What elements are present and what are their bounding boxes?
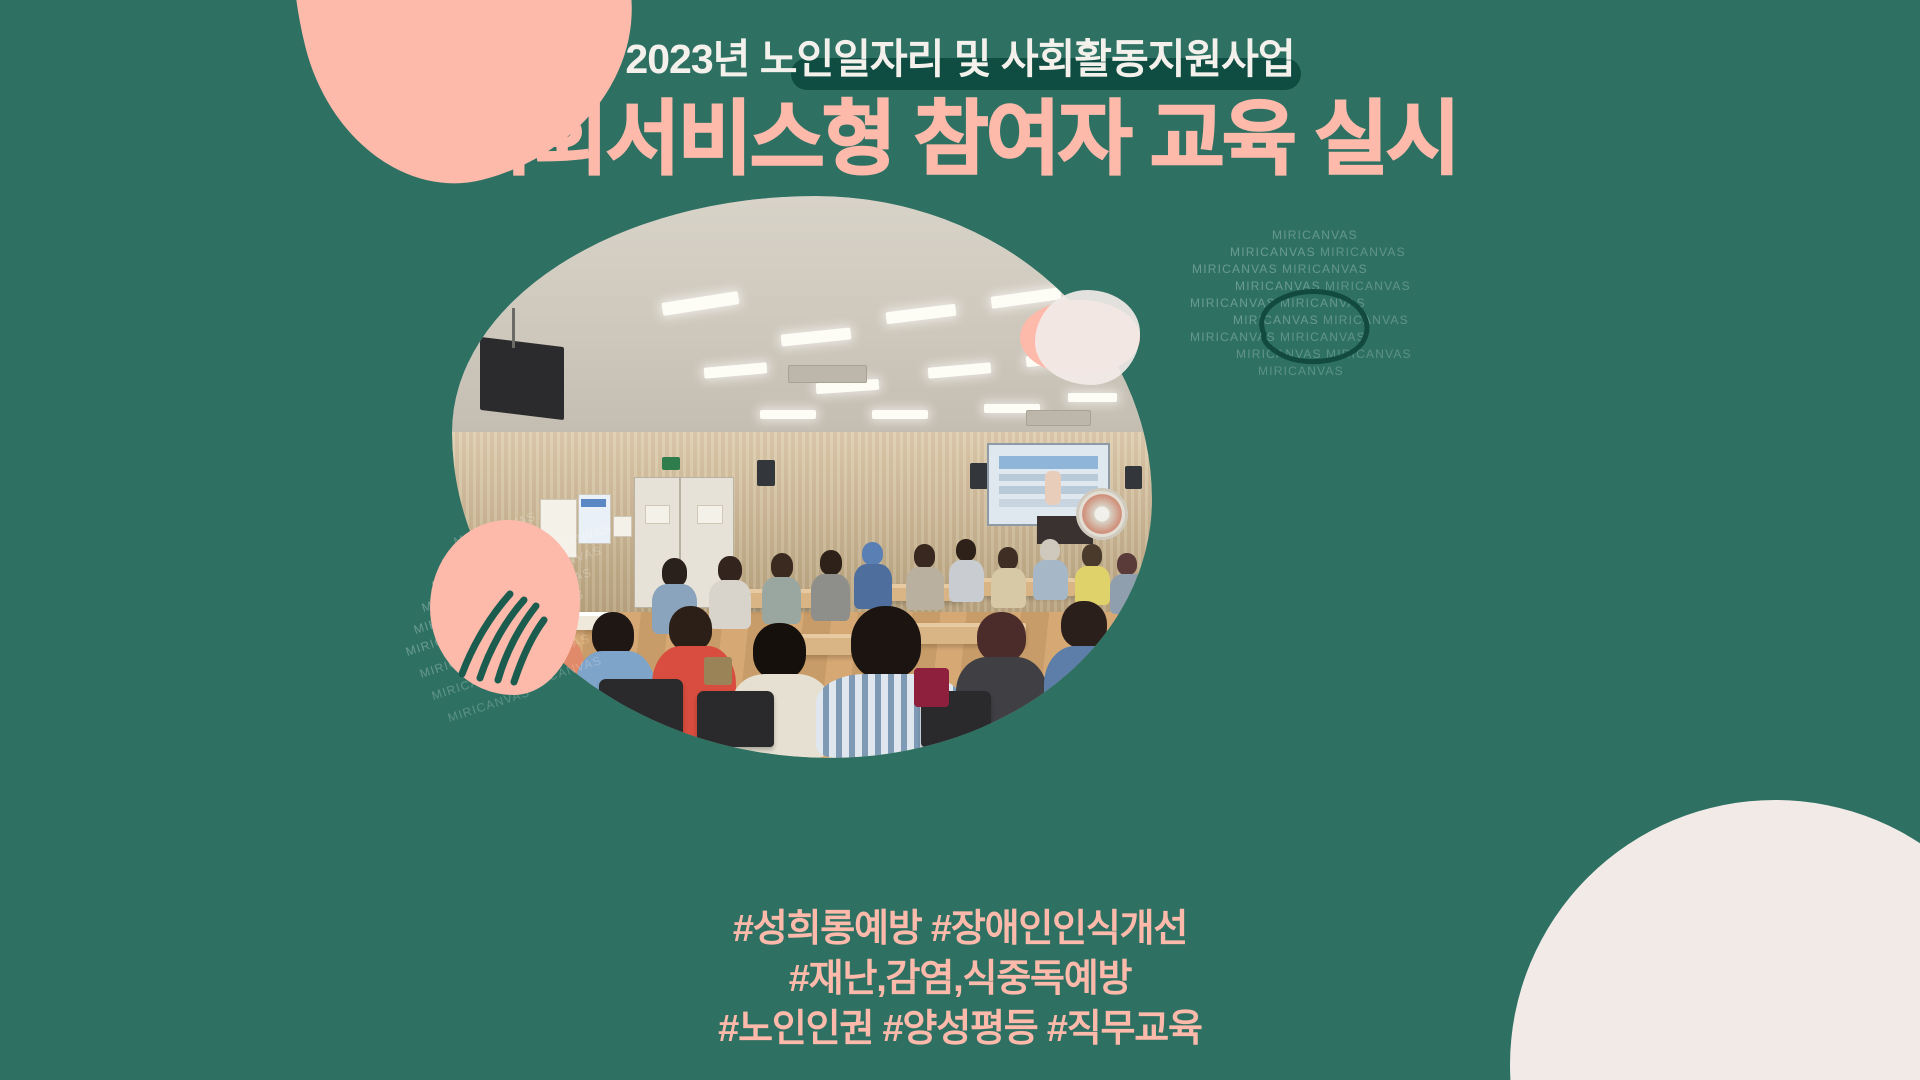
watermark-text: MIRICANVAS <box>1233 313 1319 327</box>
photo-mask <box>452 196 1152 758</box>
watermark-text: MIRICANVAS <box>1280 296 1366 310</box>
watermark-text: MIRICANVAS <box>1236 347 1322 361</box>
watermark-text: MIRICANVAS <box>1272 228 1358 242</box>
watermark-text: MIRICANVAS <box>1326 347 1412 361</box>
watermark-text: MIRICANVAS <box>1320 245 1406 259</box>
watermark-text: MIRICANVAS <box>1235 279 1321 293</box>
electric-fan <box>1076 488 1128 540</box>
watermark-text: MIRICANVAS <box>1192 262 1278 276</box>
hanging-monitor <box>480 337 564 420</box>
hashtag-line: #재난,감염,식중독예방 <box>0 954 1920 1004</box>
watermark-text: MIRICANVAS <box>1190 296 1276 310</box>
poster-canvas: 2023년 노인일자리 및 사회활동지원사업 사회서비스형 참여자 교육 실시 <box>0 0 1920 1080</box>
poster-subtitle: 2023년 노인일자리 및 사회활동지원사업 <box>625 34 1294 84</box>
hashtag-line: #노인인권 #양성평등 #직무교육 <box>0 1004 1920 1054</box>
watermark-text: MIRICANVAS <box>1258 364 1344 378</box>
presenter <box>1045 471 1061 505</box>
watermark-text: MIRICANVAS <box>1230 245 1316 259</box>
watermark-scribble-right <box>1248 282 1378 372</box>
hashtag-line: #성희롱예방 #장애인인식개선 <box>0 904 1920 954</box>
poster-title: 사회서비스형 참여자 교육 실시 <box>0 93 1920 189</box>
poster-header: 2023년 노인일자리 및 사회활동지원사업 사회서비스형 참여자 교육 실시 <box>0 34 1920 189</box>
watermark-text: MIRICANVAS <box>1323 313 1409 327</box>
photo-blob <box>452 196 1152 758</box>
watermark-text: MIRICANVAS <box>1282 262 1368 276</box>
seminar-photo <box>452 196 1152 758</box>
subtitle-wrapper: 2023년 노인일자리 및 사회활동지원사업 <box>611 34 1308 84</box>
watermark-text: MIRICANVAS <box>1190 330 1276 344</box>
seminar-room-scene <box>452 196 1152 758</box>
watermark-text: MIRICANVAS <box>1280 330 1366 344</box>
hashtag-block: #성희롱예방 #장애인인식개선 #재난,감염,식중독예방 #노인인권 #양성평등… <box>0 904 1920 1054</box>
watermark-text: MIRICANVAS <box>1325 279 1411 293</box>
